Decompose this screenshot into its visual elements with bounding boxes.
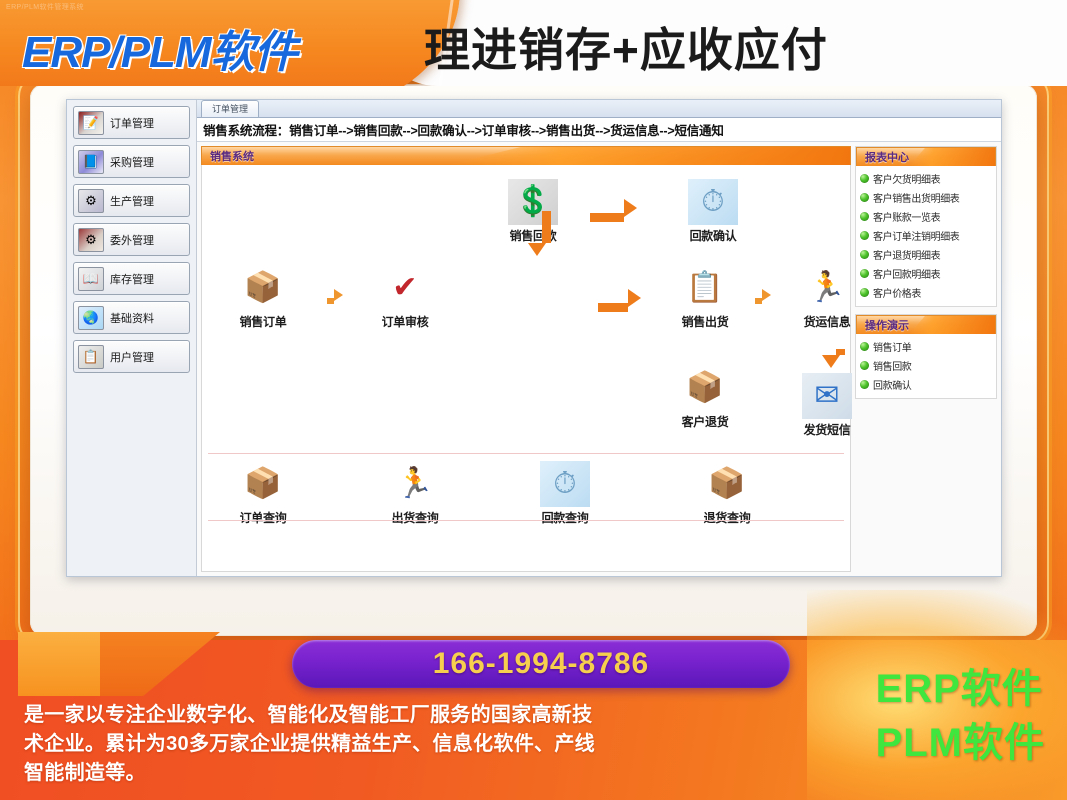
outsourcing-icon: ⚙	[78, 228, 104, 252]
order-query-icon: 📦	[238, 461, 288, 507]
sidebar-item-purchase[interactable]: 📘 采购管理	[73, 145, 190, 178]
list-item-label: 回款确认	[873, 377, 911, 392]
sidebar-item-label: 委外管理	[110, 232, 154, 248]
node-return-query[interactable]: 📦 退货查询	[684, 461, 770, 526]
sidebar-item-order[interactable]: 📝 订单管理	[73, 106, 190, 139]
phone-number-badge[interactable]: 166-1994-8786	[292, 640, 790, 688]
erp-application-window: 📝 订单管理 📘 采购管理 ⚙ 生产管理 ⚙ 委外管理 📖 库存管理 🌏 基础资…	[66, 99, 1002, 577]
clipboard-user-icon: 📋	[78, 345, 104, 369]
demo-center-header: 操作演示	[856, 315, 996, 334]
node-payment-query[interactable]: ⏱ 回款查询	[522, 461, 608, 526]
sidebar-item-label: 订单管理	[110, 115, 154, 131]
top-banner: ERP/PLM软件管理系统 理进销存+应收应付 ERP/PLM软件	[0, 0, 1067, 86]
flow-description-text: 销售系统流程：销售订单-->销售回款-->回款确认-->订单审核-->销售出货-…	[197, 118, 1001, 142]
demo-center-panel: 操作演示 销售订单 销售回款 回款确认	[855, 314, 997, 399]
tab-order-management[interactable]: 订单管理	[201, 100, 259, 117]
diagram-column: 销售系统 💲 销售回款 ⏱ 回款确认	[197, 142, 855, 576]
list-item-label: 客户订单注销明细表	[873, 228, 959, 243]
divider-line-bottom	[208, 520, 844, 521]
divider-line	[208, 453, 844, 454]
keyword-erp: ERP软件	[876, 662, 1045, 716]
purchase-book-icon: 📘	[78, 150, 104, 174]
list-item[interactable]: 客户退货明细表	[860, 247, 992, 262]
node-label: 客户退货	[662, 413, 748, 430]
node-customer-return[interactable]: 📦 客户退货	[662, 365, 748, 430]
node-shipment-query[interactable]: 🏃 出货查询	[372, 461, 458, 526]
shipment-query-icon: 🏃	[390, 461, 440, 507]
arrow-shipment-to-freight	[762, 289, 771, 301]
list-item[interactable]: 客户回款明细表	[860, 266, 992, 281]
node-label: 订单查询	[220, 509, 306, 526]
sidebar-item-label: 生产管理	[110, 193, 154, 209]
sidebar-item-user[interactable]: 📋 用户管理	[73, 340, 190, 373]
return-query-icon: 📦	[702, 461, 752, 507]
panel-title: 操作演示	[857, 317, 909, 333]
green-bullet-icon	[860, 174, 869, 183]
node-order-query[interactable]: 📦 订单查询	[220, 461, 306, 526]
node-label: 发货短信	[784, 421, 870, 438]
gear-production-icon: ⚙	[78, 189, 104, 213]
list-item[interactable]: 客户欠货明细表	[860, 171, 992, 186]
footer-section: 166-1994-8786 是一家以专注企业数字化、智能化及智能工厂服务的国家高…	[0, 590, 1067, 800]
green-bullet-icon	[860, 212, 869, 221]
freight-info-icon: 🏃	[802, 265, 852, 311]
product-keywords: ERP软件 PLM软件	[876, 662, 1045, 770]
sidebar-item-outsourcing[interactable]: ⚙ 委外管理	[73, 223, 190, 256]
panel-title: 报表中心	[857, 149, 909, 165]
panel-title: 销售系统	[202, 148, 254, 164]
list-item[interactable]: 客户订单注销明细表	[860, 228, 992, 243]
order-icon: 📝	[78, 111, 104, 135]
description-line-2: 术企业。累计为30多万家企业提供精益生产、信息化软件、产线	[24, 730, 724, 759]
arrow-to-shipment	[628, 289, 641, 307]
list-item-label: 销售订单	[873, 339, 911, 354]
arrow-payment-to-confirm	[624, 199, 637, 217]
list-item-label: 销售回款	[873, 358, 911, 373]
app-main-pane: 订单管理 销售系统流程：销售订单-->销售回款-->回款确认-->订单审核-->…	[197, 100, 1001, 576]
node-label: 回款查询	[522, 509, 608, 526]
sales-order-icon: 📦	[238, 265, 288, 311]
sidebar-item-label: 库存管理	[110, 271, 154, 287]
list-item[interactable]: 销售订单	[860, 339, 992, 354]
node-label: 销售回款	[490, 227, 576, 244]
list-item-label: 客户回款明细表	[873, 266, 940, 281]
banner-subtitle: 理进销存+应收应付	[424, 14, 828, 80]
node-order-audit[interactable]: ✔ 订单审核	[362, 265, 448, 330]
shipment-sms-icon: ✉	[802, 373, 852, 419]
list-item-label: 客户销售出货明细表	[873, 190, 959, 205]
node-sales-shipment[interactable]: 📋 销售出货	[662, 265, 748, 330]
list-item-label: 客户欠货明细表	[873, 171, 940, 186]
green-bullet-icon	[860, 342, 869, 351]
arrow-order-to-audit	[334, 289, 343, 301]
customer-return-icon: 📦	[680, 365, 730, 411]
right-panels-column: 报表中心 客户欠货明细表 客户销售出货明细表 客户账	[855, 142, 1001, 576]
sidebar-item-basic-data[interactable]: 🌏 基础资料	[73, 301, 190, 334]
green-bullet-icon	[860, 250, 869, 259]
tab-strip: 订单管理	[197, 100, 1001, 118]
report-center-panel: 报表中心 客户欠货明细表 客户销售出货明细表 客户账	[855, 146, 997, 307]
node-label: 订单审核	[362, 313, 448, 330]
sales-flow-diagram: 💲 销售回款 ⏱ 回款确认	[201, 165, 851, 572]
banner-micro-text: ERP/PLM软件管理系统	[6, 2, 84, 12]
sidebar-item-label: 用户管理	[110, 349, 154, 365]
company-description: 是一家以专注企业数字化、智能化及智能工厂服务的国家高新技 术企业。累计为30多万…	[24, 701, 724, 788]
node-label: 出货查询	[372, 509, 458, 526]
globe-icon: 🌏	[78, 306, 104, 330]
report-center-list: 客户欠货明细表 客户销售出货明细表 客户账款一览表 客户订单注销明细表	[856, 166, 996, 306]
payment-query-icon: ⏱	[540, 461, 590, 507]
node-label: 销售订单	[220, 313, 306, 330]
node-sales-payment[interactable]: 💲 销售回款	[490, 179, 576, 244]
sales-payment-icon: 💲	[508, 179, 558, 225]
node-sales-order[interactable]: 📦 销售订单	[220, 265, 306, 330]
demo-center-list: 销售订单 销售回款 回款确认	[856, 334, 996, 398]
green-bullet-icon	[860, 193, 869, 202]
list-item-label: 客户退货明细表	[873, 247, 940, 262]
sales-system-panel-header: 销售系统	[201, 146, 851, 165]
list-item-label: 客户账款一览表	[873, 209, 940, 224]
sales-shipment-icon: 📋	[680, 265, 730, 311]
node-label: 退货查询	[684, 509, 770, 526]
payment-confirm-icon: ⏱	[688, 179, 738, 225]
banner-title: ERP/PLM软件	[22, 16, 297, 80]
list-item[interactable]: 客户账款一览表	[860, 209, 992, 224]
node-label: 回款确认	[670, 227, 756, 244]
report-center-header: 报表中心	[856, 147, 996, 166]
list-item[interactable]: 回款确认	[860, 377, 992, 392]
warehouse-icon: 📖	[78, 267, 104, 291]
app-sidebar: 📝 订单管理 📘 采购管理 ⚙ 生产管理 ⚙ 委外管理 📖 库存管理 🌏 基础资…	[67, 100, 197, 576]
green-bullet-icon	[860, 231, 869, 240]
arrow-to-sms	[822, 355, 840, 368]
order-audit-icon: ✔	[380, 265, 430, 311]
app-body: 销售系统 💲 销售回款 ⏱ 回款确认	[197, 142, 1001, 576]
keyword-plm: PLM软件	[876, 716, 1045, 770]
arrow-payment-down	[528, 243, 546, 256]
node-payment-confirm[interactable]: ⏱ 回款确认	[670, 179, 756, 244]
list-item[interactable]: 销售回款	[860, 358, 992, 373]
list-item-label: 客户价格表	[873, 285, 921, 300]
sidebar-item-inventory[interactable]: 📖 库存管理	[73, 262, 190, 295]
sidebar-item-production[interactable]: ⚙ 生产管理	[73, 184, 190, 217]
green-bullet-icon	[860, 361, 869, 370]
sidebar-item-label: 采购管理	[110, 154, 154, 170]
description-line-1: 是一家以专注企业数字化、智能化及智能工厂服务的国家高新技	[24, 701, 724, 730]
node-shipment-sms[interactable]: ✉ 发货短信	[784, 373, 870, 438]
node-label: 销售出货	[662, 313, 748, 330]
phone-number-text: 166-1994-8786	[433, 647, 650, 681]
sidebar-item-label: 基础资料	[110, 310, 154, 326]
list-item[interactable]: 客户销售出货明细表	[860, 190, 992, 205]
list-item[interactable]: 客户价格表	[860, 285, 992, 300]
description-line-3: 智能制造等。	[24, 759, 724, 788]
